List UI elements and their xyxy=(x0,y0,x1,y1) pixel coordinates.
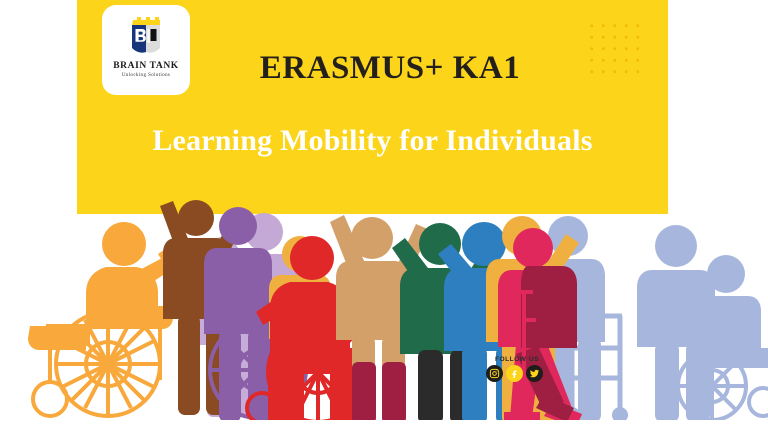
facebook-icon[interactable] xyxy=(506,365,523,382)
twitter-icon[interactable] xyxy=(526,365,543,382)
follow-us-label: FOLLOW US xyxy=(486,356,548,363)
logo-wordmark: BRAIN TANK xyxy=(113,61,179,71)
brain-tank-shield-icon xyxy=(122,12,170,60)
poster-canvas: BRAIN TANK Unlocking Solutions ERASMUS+ … xyxy=(0,0,768,432)
logo-tagline: Unlocking Solutions xyxy=(122,72,171,78)
crowd-illustration xyxy=(0,196,768,424)
follow-us-block: FOLLOW US xyxy=(486,356,548,382)
brand-logo-card: BRAIN TANK Unlocking Solutions xyxy=(102,5,190,95)
instagram-icon[interactable] xyxy=(486,365,503,382)
social-icons-row xyxy=(486,365,548,382)
headline-title: Learning Mobility for Individuals xyxy=(77,124,668,158)
